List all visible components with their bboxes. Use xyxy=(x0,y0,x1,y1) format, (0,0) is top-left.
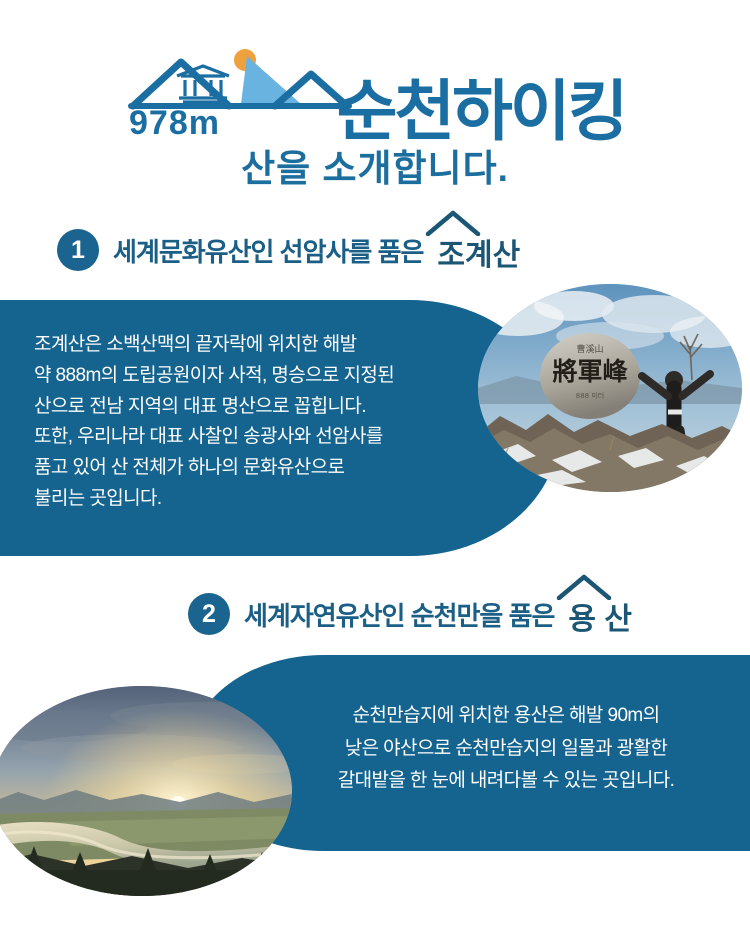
logo-wordmark: 순천하이킹 xyxy=(337,79,626,144)
section-2-body: 순천만습지에 위치한 용산은 해발 90m의 낮은 야산으로 순천만습지의 일몰… xyxy=(300,700,730,798)
logo-elevation: 978m xyxy=(129,104,220,138)
subtitle: 산을 소개합니다. xyxy=(0,138,750,192)
infographic-page: 978m 순천하이킹 산을 소개합니다. 1 세계문화유산인 선암사를 품은 조… xyxy=(0,0,750,938)
section-2-heading: 2 세계자연유산인 순천만을 품은 용 산 xyxy=(188,590,632,638)
stone-inscription: 將軍峰 xyxy=(552,357,628,386)
body-line: 낮은 야산으로 순천만습지의 일몰과 광활한 xyxy=(300,733,712,766)
mountain-peak-icon xyxy=(556,574,612,600)
body-line: 순천만습지에 위치한 용산은 해발 90m의 xyxy=(300,700,712,733)
section-2-title: 세계자연유산인 순천만을 품은 xyxy=(244,596,554,633)
body-line: 갈대밭을 한 눈에 내려다볼 수 있는 곳입니다. xyxy=(300,765,712,798)
section-2-mountain-name: 용 산 xyxy=(568,590,632,638)
jogyesan-summit-photo: 曹溪山 將軍峰 888 미터 xyxy=(478,284,742,492)
section-1-number-badge: 1 xyxy=(57,229,99,271)
section-2-mountain-label: 용 산 xyxy=(568,603,632,636)
section-1-mountain-name: 조계산 xyxy=(437,226,520,274)
svg-text:曹溪山: 曹溪山 xyxy=(576,343,603,355)
body-line: 또한, 우리나라 대표 사찰인 송광사와 선암사를 xyxy=(34,422,430,453)
body-line: 산으로 전남 지역의 대표 명산으로 꼽힙니다. xyxy=(34,392,430,423)
mountain-outline-icon: 978m xyxy=(125,42,355,138)
body-line: 품고 있어 산 전체가 하나의 문화유산으로 xyxy=(34,453,430,484)
section-2-number-badge: 2 xyxy=(188,593,230,635)
logo-mark: 978m xyxy=(125,42,355,138)
svg-text:888 미터: 888 미터 xyxy=(576,391,604,400)
section-1-mountain-label: 조계산 xyxy=(437,239,520,272)
mountain-peak-icon xyxy=(425,210,481,236)
body-line: 조계산은 소백산맥의 끝자락에 위치한 해발 xyxy=(34,330,430,361)
section-1-body: 조계산은 소백산맥의 끝자락에 위치한 해발 약 888m의 도립공원이자 사적… xyxy=(0,330,450,515)
header: 978m 순천하이킹 산을 소개합니다. xyxy=(0,0,750,205)
section-1-title: 세계문화유산인 선암사를 품은 xyxy=(113,232,423,269)
body-line: 약 888m의 도립공원이자 사적, 명승으로 지정된 xyxy=(34,361,430,392)
section-1-heading: 1 세계문화유산인 선암사를 품은 조계산 xyxy=(57,226,520,274)
body-line: 불리는 곳입니다. xyxy=(34,484,430,515)
yongsan-sunset-photo xyxy=(0,686,292,896)
logo: 978m 순천하이킹 xyxy=(0,38,750,138)
mountain-fill-icon xyxy=(241,56,301,104)
